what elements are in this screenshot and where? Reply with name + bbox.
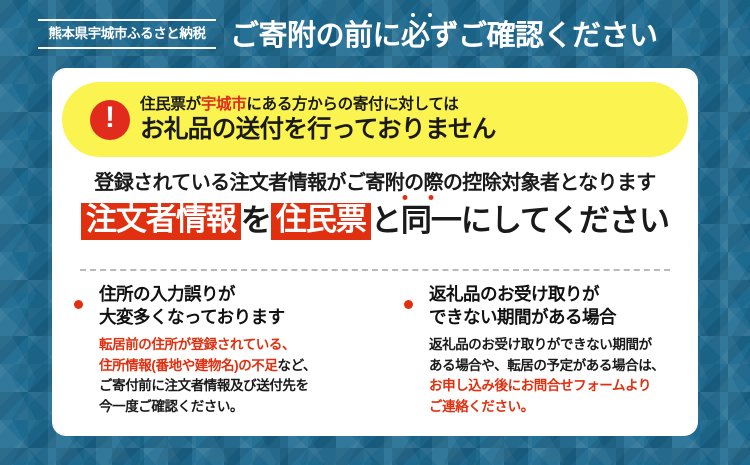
note-body-line-3: お申し込み後にお問合せフォームより	[429, 376, 698, 397]
title-part-2: ご確認ください	[458, 20, 658, 52]
exclamation-glyph: !	[105, 103, 115, 133]
note-column-delivery-period: 返礼品のお受け取りが できない期間がある場合 返礼品のお受け取りができない期間が…	[384, 283, 698, 417]
red-dot-bullet-icon	[74, 300, 83, 309]
chip-residence-certificate: 住民票	[271, 203, 371, 240]
chip-orderer-info: 注文者情報	[81, 203, 241, 240]
note-heading-line-1: 住所の入力誤りが	[99, 283, 384, 306]
title-emphasis: 必ず	[401, 22, 458, 51]
note-body-line-4: 今一度ご確認ください。	[99, 397, 384, 418]
alert-line1-highlight: 宇城市	[201, 96, 247, 113]
content-card: ! 住民票が宇城市にある方からの寄付に対しては お礼品の送付を行っておりません …	[52, 68, 698, 436]
instruction-tail: にしてください	[461, 203, 669, 239]
instruction-line-1: 登録されている注文者情報がご寄附の際の控除対象者となります	[52, 172, 698, 194]
note-body-line-2: ある場合や、転居の予定がある場合は、	[429, 356, 698, 377]
note-heading: 住所の入力誤りが 大変多くなっております	[99, 283, 384, 329]
exclamation-circle-icon: !	[90, 100, 130, 140]
alert-banner: ! 住民票が宇城市にある方からの寄付に対しては お礼品の送付を行っておりません	[62, 82, 688, 157]
promo-banner: 熊本県宇城市ふるさと納税 ご寄附の前に必ずご確認ください ! 住民票が宇城市にあ…	[0, 0, 750, 465]
note-body: 転居前の住所が登録されている、 住所情報(番地や建物名)の不足など、 ご寄付前に…	[99, 335, 384, 417]
instruction-emphasis: 同一	[401, 203, 461, 239]
alert-line1-post: にある方からの寄付に対しては	[246, 96, 458, 113]
page-title: ご寄附の前に必ずご確認ください	[230, 22, 658, 51]
note-body: 返礼品のお受け取りができない期間が ある場合や、転居の予定がある場合は、 お申し…	[429, 335, 698, 417]
note-body-line-1: 返礼品のお受け取りができない期間が	[429, 335, 698, 356]
banner-header: 熊本県宇城市ふるさと納税 ご寄附の前に必ずご確認ください	[0, 0, 750, 68]
instruction-line-2: 注文者情報を住民票と同一にしてください	[52, 203, 698, 240]
note-body-line-3: ご寄付前に注文者情報及び送付先を	[99, 376, 384, 397]
alert-line-2: お礼品の送付を行っておりません	[140, 118, 496, 143]
section-divider	[80, 269, 670, 271]
note-heading-line-2: 大変多くなっております	[99, 306, 384, 329]
notes-columns: 住所の入力誤りが 大変多くなっております 転居前の住所が登録されている、 住所情…	[52, 283, 698, 417]
title-part-1: ご寄附の前に	[230, 20, 401, 52]
note-column-address-errors: 住所の入力誤りが 大変多くなっております 転居前の住所が登録されている、 住所情…	[52, 283, 384, 417]
red-dot-bullet-icon	[404, 300, 413, 309]
note-heading-line-2: できない期間がある場合	[429, 306, 698, 329]
note-body-line-4: ご連絡ください。	[429, 397, 698, 418]
connector-1: を	[241, 203, 271, 239]
connector-2: と	[371, 203, 401, 239]
alert-text-group: 住民票が宇城市にある方からの寄付に対しては お礼品の送付を行っておりません	[140, 97, 496, 142]
alert-line-1: 住民票が宇城市にある方からの寄付に対しては	[140, 97, 496, 113]
alert-line1-pre: 住民票が	[140, 96, 201, 113]
note-heading: 返礼品のお受け取りが できない期間がある場合	[429, 283, 698, 329]
note-body-line-1: 転居前の住所が登録されている、	[99, 335, 384, 356]
brand-tag: 熊本県宇城市ふるさと納税	[38, 19, 216, 50]
instruction-block: 登録されている注文者情報がご寄附の際の控除対象者となります 注文者情報を住民票と…	[52, 172, 698, 240]
note-heading-line-1: 返礼品のお受け取りが	[429, 283, 698, 306]
note-body-line-2: 住所情報(番地や建物名)の不足など、	[99, 356, 384, 377]
note-body-line-2-tail: など、	[278, 358, 317, 373]
note-body-line-2-red: 住所情報(番地や建物名)の不足	[99, 358, 278, 373]
